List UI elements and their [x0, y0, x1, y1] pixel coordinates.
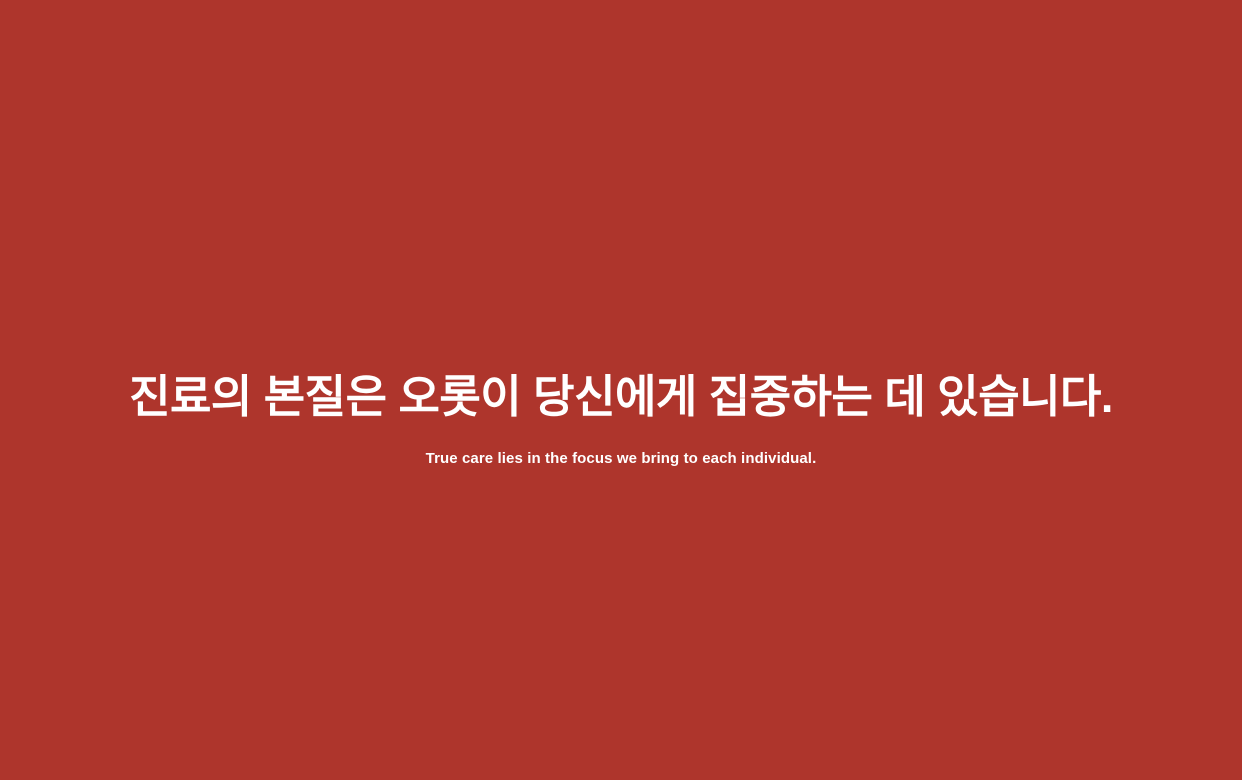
slide-headline: 진료의 본질은 오롯이 당신에게 집중하는 데 있습니다.	[129, 370, 1113, 423]
slide-content-block: 진료의 본질은 오롯이 당신에게 집중하는 데 있습니다. True care …	[0, 370, 1242, 469]
slide-subtitle: True care lies in the focus we bring to …	[426, 449, 817, 469]
slide-root: 진료의 본질은 오롯이 당신에게 집중하는 데 있습니다. True care …	[0, 0, 1242, 780]
